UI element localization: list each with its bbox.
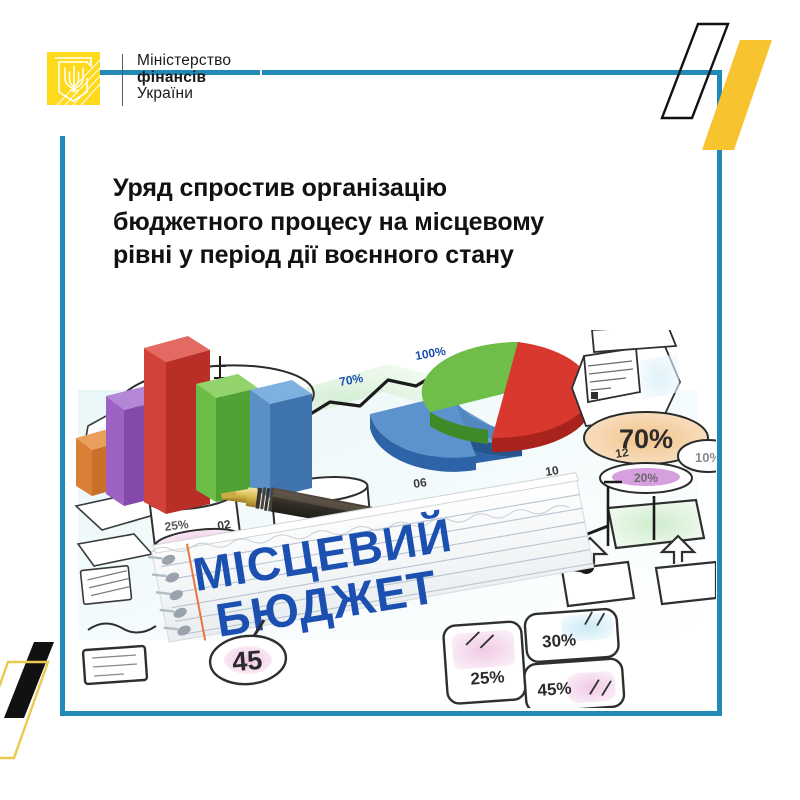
decor-parallelogram-outline-bottomleft	[0, 660, 60, 780]
page-title-line2: бюджетного процесу на місцевому	[113, 206, 703, 240]
svg-text:45%: 45%	[537, 679, 572, 700]
page-title: Уряд спростив організацію бюджетного про…	[113, 172, 703, 273]
frame-bottom-segment	[60, 711, 722, 716]
sketch-number-45: 45	[231, 645, 264, 678]
decor-parallelogram-filled-topright	[700, 38, 800, 156]
frame-right-segment	[717, 70, 722, 716]
frame-left-segment	[60, 136, 65, 716]
svg-text:02: 02	[216, 517, 232, 533]
svg-text:20%: 20%	[634, 471, 658, 485]
logo-divider	[122, 54, 123, 106]
ministry-name: Міністерство фінансів України	[137, 52, 231, 103]
page-title-line1: Уряд спростив організацію	[113, 172, 703, 206]
svg-text:10%: 10%	[695, 450, 716, 465]
ministry-name-line2: фінансів	[137, 70, 231, 87]
ukraine-trident-emblem-icon	[47, 52, 100, 105]
svg-text:30%: 30%	[541, 630, 576, 651]
ministry-logo: Міністерство фінансів України	[47, 52, 231, 106]
poster-canvas: Міністерство фінансів України Уряд спрос…	[0, 0, 800, 800]
page-title-line3: рівні у період дії воєнного стану	[113, 239, 703, 273]
ministry-name-line1: Міністерство	[137, 53, 231, 70]
svg-text:06: 06	[412, 475, 428, 491]
svg-text:12: 12	[614, 445, 630, 461]
ministry-name-line3: України	[137, 86, 231, 103]
infographic-illustration: 15% 70% 100% 25% 50%	[68, 330, 716, 708]
svg-text:25%: 25%	[470, 667, 505, 688]
svg-text:25%: 25%	[164, 517, 190, 534]
trident-glyph-icon	[61, 63, 87, 95]
